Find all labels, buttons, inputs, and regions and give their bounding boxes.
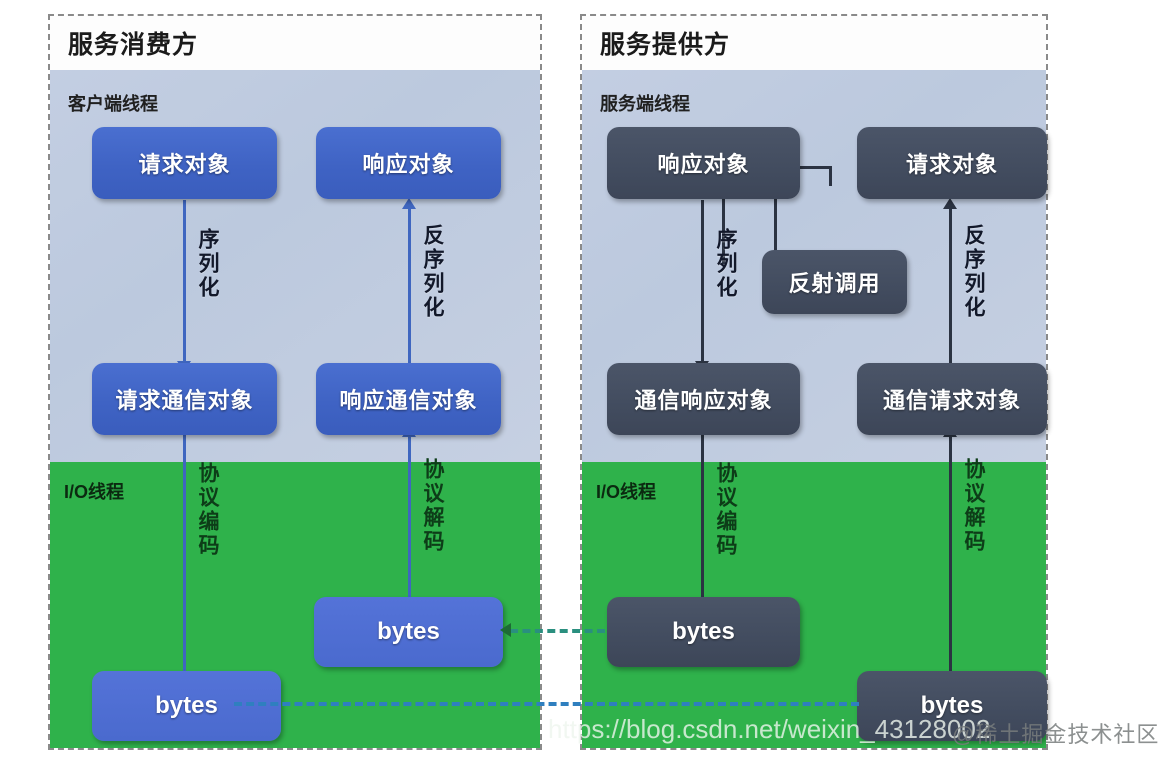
dashed-link-response-bytes bbox=[510, 629, 605, 633]
arrowhead-response-bytes-left bbox=[500, 623, 511, 637]
edge-label-consumer-protocol-decode: 协议解码 bbox=[417, 458, 447, 554]
panel-service-consumer: 服务消费方 客户端线程 I/O线程 序列化 反序列化 协议编码 协议解码 请求对… bbox=[48, 14, 542, 750]
node-provider-response-object-label: 响应对象 bbox=[657, 147, 749, 179]
connector-provider-deserialize bbox=[949, 208, 952, 373]
node-provider-comm-request-object-label: 通信请求对象 bbox=[883, 383, 1021, 415]
edge-label-provider-serialize: 序列化 bbox=[710, 228, 740, 300]
node-provider-bytes-in[interactable]: bytes bbox=[857, 671, 1047, 741]
dashed-link-request-bytes bbox=[234, 702, 859, 706]
connector-provider-protocol-encode bbox=[701, 434, 704, 609]
node-provider-comm-response-object[interactable]: 通信响应对象 bbox=[607, 363, 800, 435]
edge-label-consumer-serialize: 序列化 bbox=[192, 228, 222, 300]
node-provider-request-object-label: 请求对象 bbox=[906, 147, 998, 179]
panel-provider-title: 服务提供方 bbox=[582, 16, 1046, 70]
connector-provider-request-branch bbox=[829, 166, 832, 186]
node-provider-bytes-out-label: bytes bbox=[672, 618, 735, 646]
panel-consumer-title: 服务消费方 bbox=[50, 16, 540, 70]
edge-label-provider-protocol-decode: 协议解码 bbox=[958, 458, 988, 554]
connector-consumer-protocol-encode bbox=[183, 434, 186, 684]
connector-consumer-deserialize bbox=[408, 208, 411, 373]
arrowhead-consumer-deserialize bbox=[402, 198, 416, 209]
node-consumer-request-object-label: 请求对象 bbox=[138, 147, 230, 179]
node-provider-request-object[interactable]: 请求对象 bbox=[857, 127, 1047, 199]
node-provider-reflection-call[interactable]: 反射调用 bbox=[762, 250, 907, 314]
edge-label-consumer-protocol-encode: 协议编码 bbox=[192, 462, 222, 558]
connector-consumer-serialize bbox=[183, 200, 186, 365]
edge-label-consumer-deserialize: 反序列化 bbox=[417, 224, 447, 320]
node-consumer-bytes-out[interactable]: bytes bbox=[92, 671, 281, 741]
node-consumer-response-comm-object[interactable]: 响应通信对象 bbox=[316, 363, 501, 435]
node-provider-comm-response-object-label: 通信响应对象 bbox=[634, 383, 772, 415]
node-provider-response-object[interactable]: 响应对象 bbox=[607, 127, 800, 199]
diagram-canvas: 服务消费方 客户端线程 I/O线程 序列化 反序列化 协议编码 协议解码 请求对… bbox=[0, 0, 1161, 762]
arrowhead-provider-deserialize bbox=[943, 198, 957, 209]
panel-service-provider: 服务提供方 服务端线程 I/O线程 序列化 反序列化 协议编码 协议解码 bbox=[580, 14, 1048, 750]
node-provider-comm-request-object[interactable]: 通信请求对象 bbox=[857, 363, 1047, 435]
node-consumer-response-comm-object-label: 响应通信对象 bbox=[339, 383, 477, 415]
connector-consumer-protocol-decode bbox=[408, 436, 411, 601]
node-provider-bytes-out[interactable]: bytes bbox=[607, 597, 800, 667]
provider-io-label: I/O线程 bbox=[596, 478, 656, 504]
connector-provider-protocol-decode bbox=[949, 436, 952, 681]
node-provider-bytes-in-label: bytes bbox=[921, 692, 984, 720]
node-consumer-bytes-out-label: bytes bbox=[155, 692, 218, 720]
node-consumer-response-object[interactable]: 响应对象 bbox=[316, 127, 501, 199]
edge-label-provider-protocol-encode: 协议编码 bbox=[710, 462, 740, 558]
edge-label-provider-deserialize: 反序列化 bbox=[958, 224, 988, 320]
consumer-thread-label: 客户端线程 bbox=[68, 90, 158, 116]
connector-provider-serialize bbox=[701, 200, 704, 365]
provider-thread-label: 服务端线程 bbox=[600, 90, 690, 116]
node-consumer-request-object[interactable]: 请求对象 bbox=[92, 127, 277, 199]
node-consumer-request-comm-object-label: 请求通信对象 bbox=[115, 383, 253, 415]
node-consumer-bytes-in[interactable]: bytes bbox=[314, 597, 503, 667]
node-consumer-response-object-label: 响应对象 bbox=[362, 147, 454, 179]
consumer-io-label: I/O线程 bbox=[64, 478, 124, 504]
node-consumer-request-comm-object[interactable]: 请求通信对象 bbox=[92, 363, 277, 435]
node-provider-reflection-call-label: 反射调用 bbox=[788, 266, 880, 298]
node-consumer-bytes-in-label: bytes bbox=[377, 618, 440, 646]
